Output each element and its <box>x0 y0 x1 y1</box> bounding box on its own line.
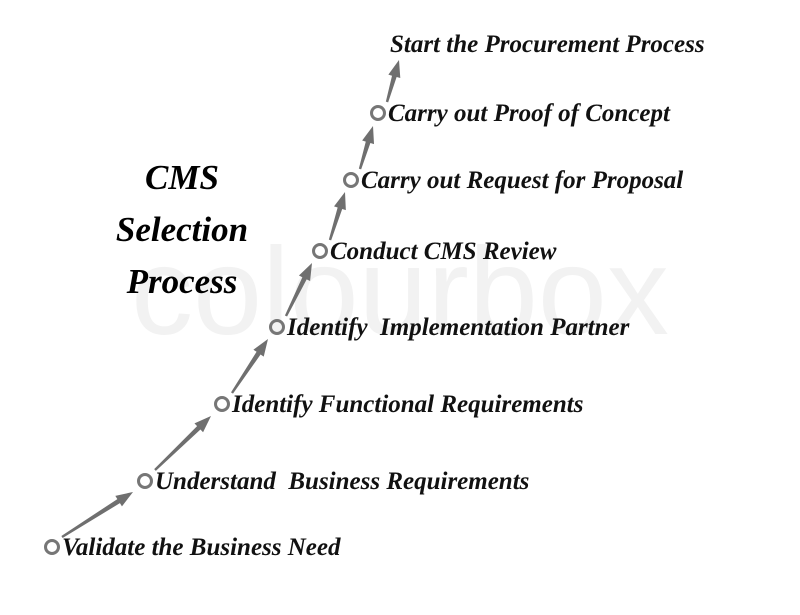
diagram-canvas: colourbox CMS Selection Process Validate… <box>0 0 800 615</box>
process-arrow <box>154 416 211 471</box>
step-label: Identify Implementation Partner <box>287 315 629 341</box>
step-label: Validate the Business Need <box>62 535 341 561</box>
process-arrow <box>359 126 374 169</box>
step-node-marker[interactable] <box>46 541 59 554</box>
step-node-marker[interactable] <box>372 107 385 120</box>
step-node-marker[interactable] <box>271 321 284 334</box>
step-label: Carry out Request for Proposal <box>361 168 683 194</box>
step-label: Identify Functional Requirements <box>232 392 583 418</box>
process-arrow <box>231 339 268 394</box>
step-label: Conduct CMS Review <box>330 239 556 265</box>
process-arrow <box>329 192 346 240</box>
step-node-marker[interactable] <box>216 398 229 411</box>
title-line-1: CMS <box>78 152 286 204</box>
step-label: Understand Business Requirements <box>155 469 529 495</box>
page-title: CMS Selection Process <box>78 152 286 308</box>
process-arrow <box>285 263 312 317</box>
step-node-marker[interactable] <box>345 174 358 187</box>
step-node-marker[interactable] <box>314 245 327 258</box>
process-arrow <box>386 60 400 102</box>
title-line-3: Process <box>78 256 286 308</box>
step-label: Carry out Proof of Concept <box>388 101 670 127</box>
step-label: Start the Procurement Process <box>390 32 705 58</box>
title-line-2: Selection <box>78 204 286 256</box>
process-arrow <box>61 492 133 538</box>
step-node-marker[interactable] <box>139 475 152 488</box>
